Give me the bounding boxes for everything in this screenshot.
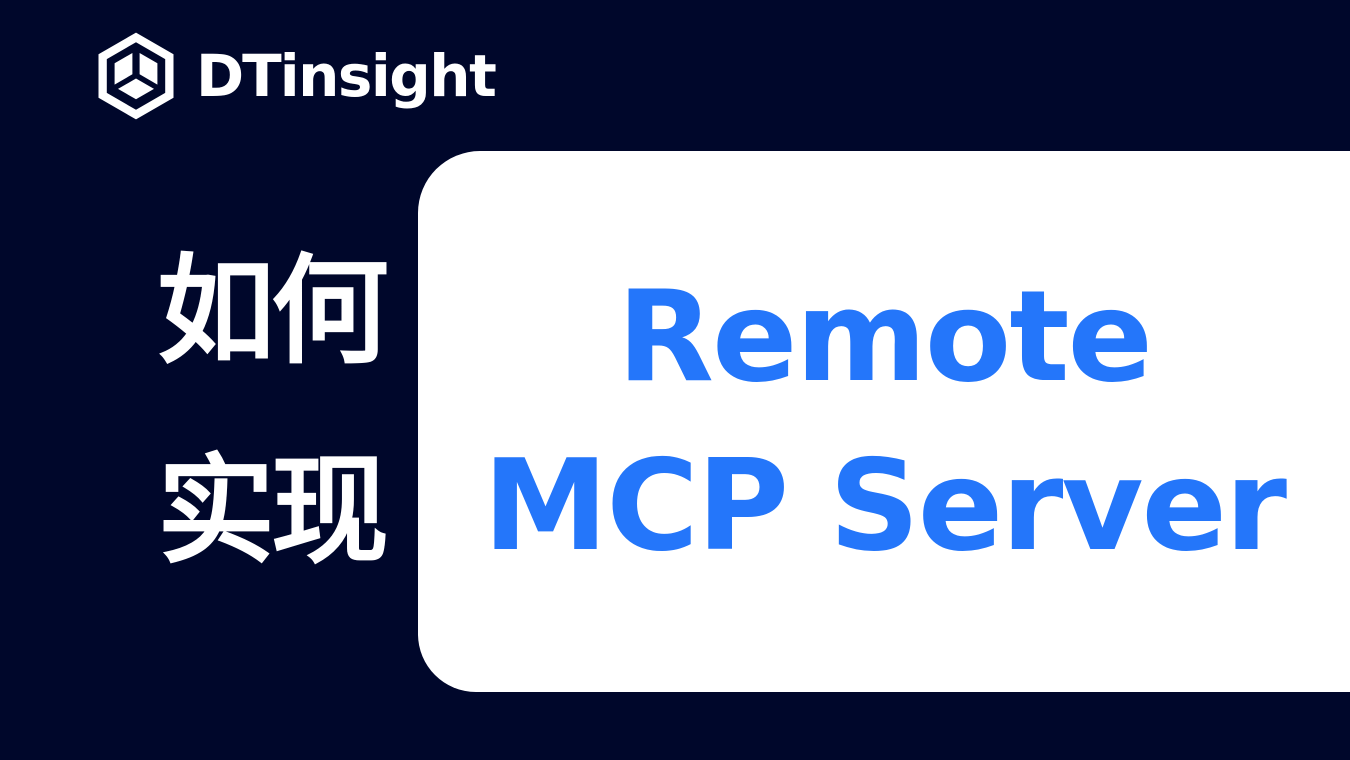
chinese-headline-line-1: 如何 xyxy=(157,252,407,370)
hexagon-cube-logo-icon xyxy=(94,30,178,122)
chinese-headline: 如何 实现 xyxy=(157,252,407,570)
brand-wordmark: DTinsight xyxy=(196,47,495,105)
brand-lockup: DTinsight xyxy=(94,30,495,122)
brand-wordmark-suffix: insight xyxy=(280,42,496,110)
chinese-headline-line-2: 实现 xyxy=(157,452,407,570)
brand-wordmark-prefix: DT xyxy=(196,42,280,110)
white-card-panel xyxy=(418,151,1350,692)
cover-canvas: DTinsight 如何 实现 Remote MCP Server xyxy=(0,0,1350,760)
